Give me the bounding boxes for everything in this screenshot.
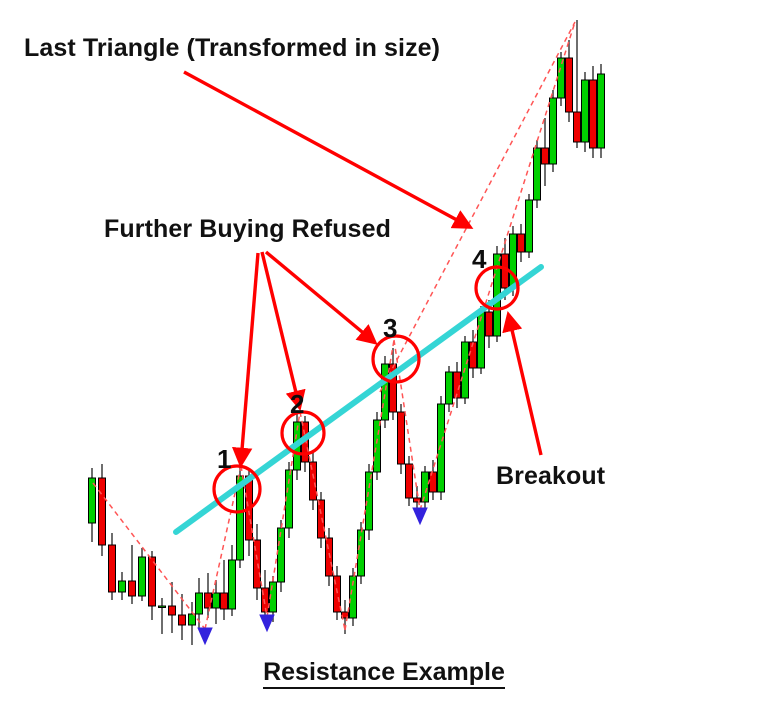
candle-bearish (486, 312, 493, 336)
chart-caption-text: Resistance Example (263, 658, 505, 689)
candle-bullish (278, 528, 285, 582)
candle-bullish (422, 472, 429, 502)
candle-bearish (398, 412, 405, 464)
touch-point-label-4: 4 (472, 244, 486, 275)
candle-bearish (221, 593, 228, 609)
label-further-buying-refused: Further Buying Refused (104, 215, 391, 244)
candle-bearish (318, 500, 325, 538)
candle-bullish (534, 148, 541, 200)
candle-bearish (149, 557, 156, 606)
candle-bullish (213, 593, 220, 608)
candle-bearish (414, 498, 421, 502)
candle-bullish (446, 372, 453, 404)
candle-bullish (558, 58, 565, 98)
candle-bearish (542, 148, 549, 164)
resistance-chart: Last Triangle (Transformed in size) Furt… (0, 0, 768, 702)
candle-bearish (169, 606, 176, 615)
touch-point-label-1: 1 (217, 444, 231, 475)
candle-bearish (590, 80, 597, 148)
candle-bullish (196, 593, 203, 614)
touch-point-label-3: 3 (383, 313, 397, 344)
candle-bullish (374, 420, 381, 472)
candle-bearish (566, 58, 573, 112)
chart-background (0, 0, 768, 702)
candle-bearish (574, 112, 581, 142)
candle-bullish (550, 98, 557, 164)
candle-bearish (109, 545, 116, 592)
label-breakout: Breakout (496, 462, 605, 491)
candle-bullish (438, 404, 445, 492)
candle-bullish (159, 606, 166, 608)
candle-bullish (582, 80, 589, 142)
candle-bearish (470, 342, 477, 368)
candle-bearish (205, 593, 212, 608)
candle-bearish (99, 478, 106, 545)
candle-bullish (382, 364, 389, 420)
touch-point-label-2: 2 (290, 389, 304, 420)
candle-bearish (518, 234, 525, 252)
label-last-triangle: Last Triangle (Transformed in size) (24, 34, 440, 63)
chart-caption: Resistance Example (0, 658, 768, 687)
candle-bullish (598, 74, 605, 148)
candle-bearish (406, 464, 413, 498)
candle-bearish (129, 581, 136, 596)
candle-bullish (139, 557, 146, 596)
candle-bullish (119, 581, 126, 592)
candle-bullish (229, 560, 236, 609)
candle-bearish (310, 462, 317, 500)
candle-bullish (526, 200, 533, 252)
candle-bearish (326, 538, 333, 576)
candlestick-chart-canvas (0, 0, 768, 702)
candle-bearish (179, 615, 186, 625)
